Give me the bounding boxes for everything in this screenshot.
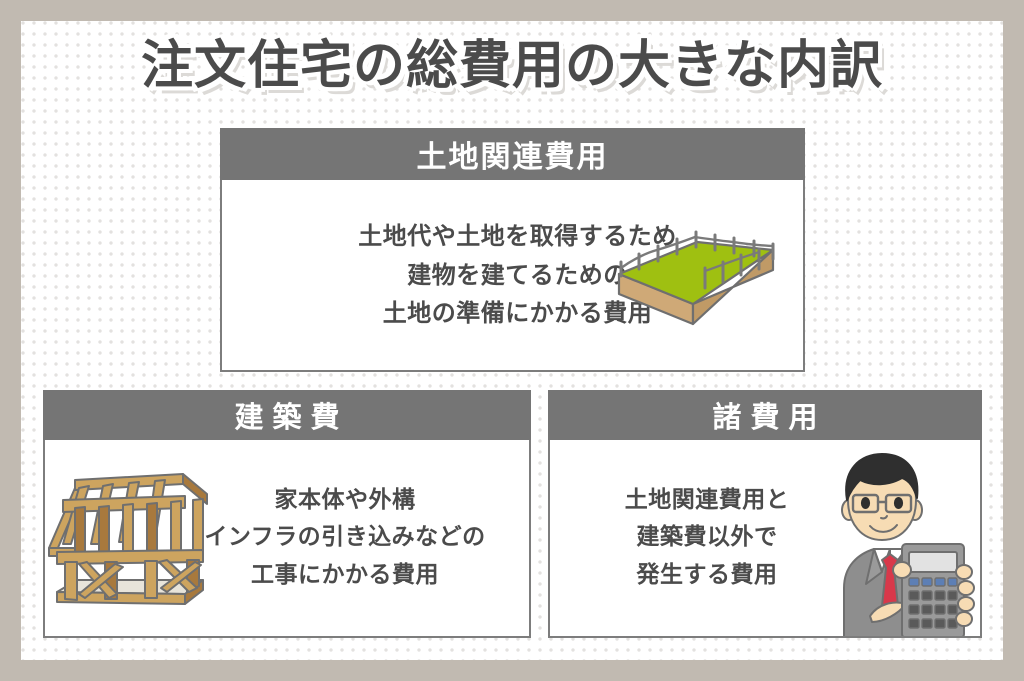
house-frame-illustration (47, 452, 219, 624)
card-construction-text: 家本体や外構 インフラの引き込みなどの 工事にかかる費用 (204, 482, 485, 594)
card-misc-text: 土地関連費用と 建築費以外で 発生する費用 (625, 482, 790, 594)
infographic-root: 注文住宅の総費用の大きな内訳 土地関連費用 土地代や土地を取得するため 建物を建… (0, 0, 1024, 681)
card-land-related-costs: 土地関連費用 土地代や土地を取得するため 建物を建てるための 土地の準備にかかる… (220, 128, 805, 372)
card-construction-line-2: インフラの引き込みなどの (204, 519, 485, 556)
card-construction-costs: 建築費 (43, 390, 531, 638)
land-plot-illustration (597, 222, 793, 330)
card-land-body: 土地代や土地を取得するため 建物を建てるための 土地の準備にかかる費用 (220, 180, 805, 372)
card-construction-line-3: 工事にかかる費用 (204, 557, 485, 594)
page-title: 注文住宅の総費用の大きな内訳 (21, 37, 1003, 97)
card-misc-line-2: 建築費以外で (625, 519, 790, 556)
card-construction-line-1: 家本体や外構 (204, 482, 485, 519)
card-misc-header: 諸費用 (548, 390, 982, 440)
card-construction-header: 建築費 (43, 390, 531, 440)
card-misc-body: 土地関連費用と 建築費以外で 発生する費用 (548, 440, 982, 638)
card-misc-costs: 諸費用 土地関連費用と 建築費以外で 発生する費用 (548, 390, 982, 638)
businessman-with-calculator-illustration (814, 448, 978, 638)
card-land-header: 土地関連費用 (220, 128, 805, 180)
card-misc-line-3: 発生する費用 (625, 557, 790, 594)
dotted-background-panel: 注文住宅の総費用の大きな内訳 土地関連費用 土地代や土地を取得するため 建物を建… (21, 21, 1003, 660)
card-misc-line-1: 土地関連費用と (625, 482, 790, 519)
card-construction-body: 家本体や外構 インフラの引き込みなどの 工事にかかる費用 (43, 440, 531, 638)
